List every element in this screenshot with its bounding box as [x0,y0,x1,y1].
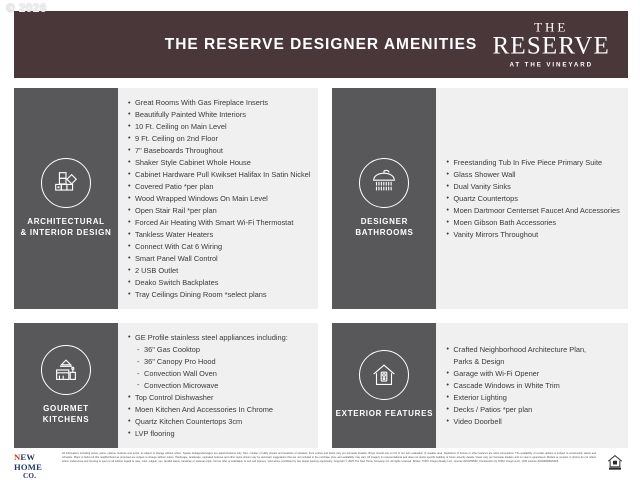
list-item: Dual Vanity Sinks [446,181,619,193]
list-item: Crafted Neighborhood Architecture Plan, [446,344,586,356]
list-item: Convection Microwave [128,380,288,392]
brand-line-reserve: RESERVE [492,34,610,59]
card-title-line2: BATHROOMS [355,228,413,237]
amenities-flyer: © 2026 THE RESERVE DESIGNER AMENITIES TH… [0,0,640,480]
list-item: Deako Switch Backplates [128,277,310,289]
brand-tagline: AT THE VINEYARD [492,62,610,69]
list-item: Garage with Wi-Fi Opener [446,368,586,380]
list-item: Exterior Lighting [446,392,586,404]
card-body: GE Profile stainless steel appliances in… [118,323,318,448]
logo-line-co: CO. [14,472,58,480]
feature-list: Freestanding Tub In Five Piece Primary S… [446,157,619,241]
new-home-co-logo: NEW HOME CO. [14,452,58,480]
list-item: Tray Ceilings Dining Room *select plans [128,289,310,301]
list-item: 36" Canopy Pro Hood [128,356,288,368]
list-item: Freestanding Tub In Five Piece Primary S… [446,157,619,169]
list-item: Open Stair Rail *per plan [128,205,310,217]
list-item: LVP flooring [128,428,288,440]
watermark-text: © 2026 [6,1,47,15]
copyright-watermark: © 2026 [6,1,47,15]
card-icon-panel: ARCHITECTURAL & INTERIOR DESIGN [14,88,118,309]
card-title: ARCHITECTURAL & INTERIOR DESIGN [20,217,111,239]
list-item: Top Control Dishwasher [128,392,288,404]
card-icon-panel: DESIGNER BATHROOMS [332,88,436,309]
list-item: Cabinet Hardware Pull Kwikset Halifax In… [128,169,310,181]
list-item: Cascade Windows in White Trim [446,380,586,392]
feature-list: Crafted Neighborhood Architecture Plan, … [446,344,586,428]
card-title-line2: & INTERIOR DESIGN [20,228,111,237]
brand-line-the: THE [492,20,610,34]
card-architectural-interior-design: ARCHITECTURAL & INTERIOR DESIGN Great Ro… [14,88,318,309]
list-item: Glass Shower Wall [446,169,619,181]
list-item: Forced Air Heating With Smart Wi-Fi Ther… [128,217,310,229]
card-body: Crafted Neighborhood Architecture Plan, … [436,323,628,448]
card-designer-bathrooms: DESIGNER BATHROOMS Freestanding Tub In F… [332,88,628,309]
feature-list: GE Profile stainless steel appliances in… [128,332,288,440]
footer: NEW HOME CO. All information, including … [14,452,628,478]
card-title-line1: EXTERIOR FEATURES [336,409,434,418]
list-item: Video Doorbell [446,416,586,428]
list-item: Moen Gibson Bath Accessories [446,217,619,229]
shower-icon [359,158,409,208]
list-item: 10 Ft. Ceiling on Main Level [128,121,310,133]
list-item: Moen Kitchen And Accessories In Chrome [128,404,288,416]
logo-line-home: HOME [14,463,58,473]
house-doorbell-icon [359,350,409,400]
card-exterior-features: EXTERIOR FEATURES Crafted Neighborhood A… [332,323,628,448]
list-item: Quartz Countertops [446,193,619,205]
paint-swatch-icon [41,158,91,208]
amenity-card-grid: ARCHITECTURAL & INTERIOR DESIGN Great Ro… [14,88,628,344]
list-item: Covered Patio *per plan [128,181,310,193]
list-item: Great Rooms With Gas Fireplace Inserts [128,97,310,109]
card-title-line1: ARCHITECTURAL [27,217,105,226]
kitchen-island-icon [41,345,91,395]
card-title-line2: KITCHENS [43,415,90,424]
list-item: Smart Panel Wall Control [128,253,310,265]
list-item: Beautifully Painted White Interiors [128,109,310,121]
list-item: Moen Dartmoor Centerset Faucet And Acces… [446,205,619,217]
card-title-line1: GOURMET [43,404,89,413]
list-item: Vanity Mirrors Throughout [446,229,619,241]
card-icon-panel: GOURMET KITCHENS [14,323,118,448]
list-item: Convection Wall Oven [128,368,288,380]
list-item: Connect With Cat 6 Wiring [128,241,310,253]
brand-logo: THE RESERVE AT THE VINEYARD [492,20,610,69]
page-title: THE RESERVE DESIGNER AMENITIES [165,36,478,54]
card-title: EXTERIOR FEATURES [336,409,434,420]
card-body: Great Rooms With Gas Fireplace Inserts B… [118,88,318,309]
list-item: Tankless Water Heaters [128,229,310,241]
card-body: Freestanding Tub In Five Piece Primary S… [436,88,628,309]
card-gourmet-kitchens: GOURMET KITCHENS GE Profile stainless st… [14,323,318,448]
card-title-line1: DESIGNER [361,217,408,226]
list-item: GE Profile stainless steel appliances in… [128,332,288,344]
legal-disclaimer: All information, including prices, plans… [58,452,602,464]
card-title: GOURMET KITCHENS [43,404,90,426]
feature-list: Great Rooms With Gas Fireplace Inserts B… [128,97,310,301]
card-icon-panel: EXTERIOR FEATURES [332,323,436,448]
list-item: 2 USB Outlet [128,265,310,277]
list-item: Parks & Design [446,356,586,368]
list-item: Wood Wrapped Windows On Main Level [128,193,310,205]
list-item: 7" Baseboards Throughout [128,145,310,157]
list-item: 36" Gas Cooktop [128,344,288,356]
list-item: Quartz Kitchen Countertops 3cm [128,416,288,428]
card-title: DESIGNER BATHROOMS [355,217,413,239]
list-item: Decks / Patios *per plan [446,404,586,416]
list-item: Shaker Style Cabinet Whole House [128,157,310,169]
list-item: 9 Ft. Ceiling on 2nd Floor [128,133,310,145]
equal-housing-opportunity-icon [602,452,628,471]
header-banner: THE RESERVE DESIGNER AMENITIES THE RESER… [14,11,628,78]
